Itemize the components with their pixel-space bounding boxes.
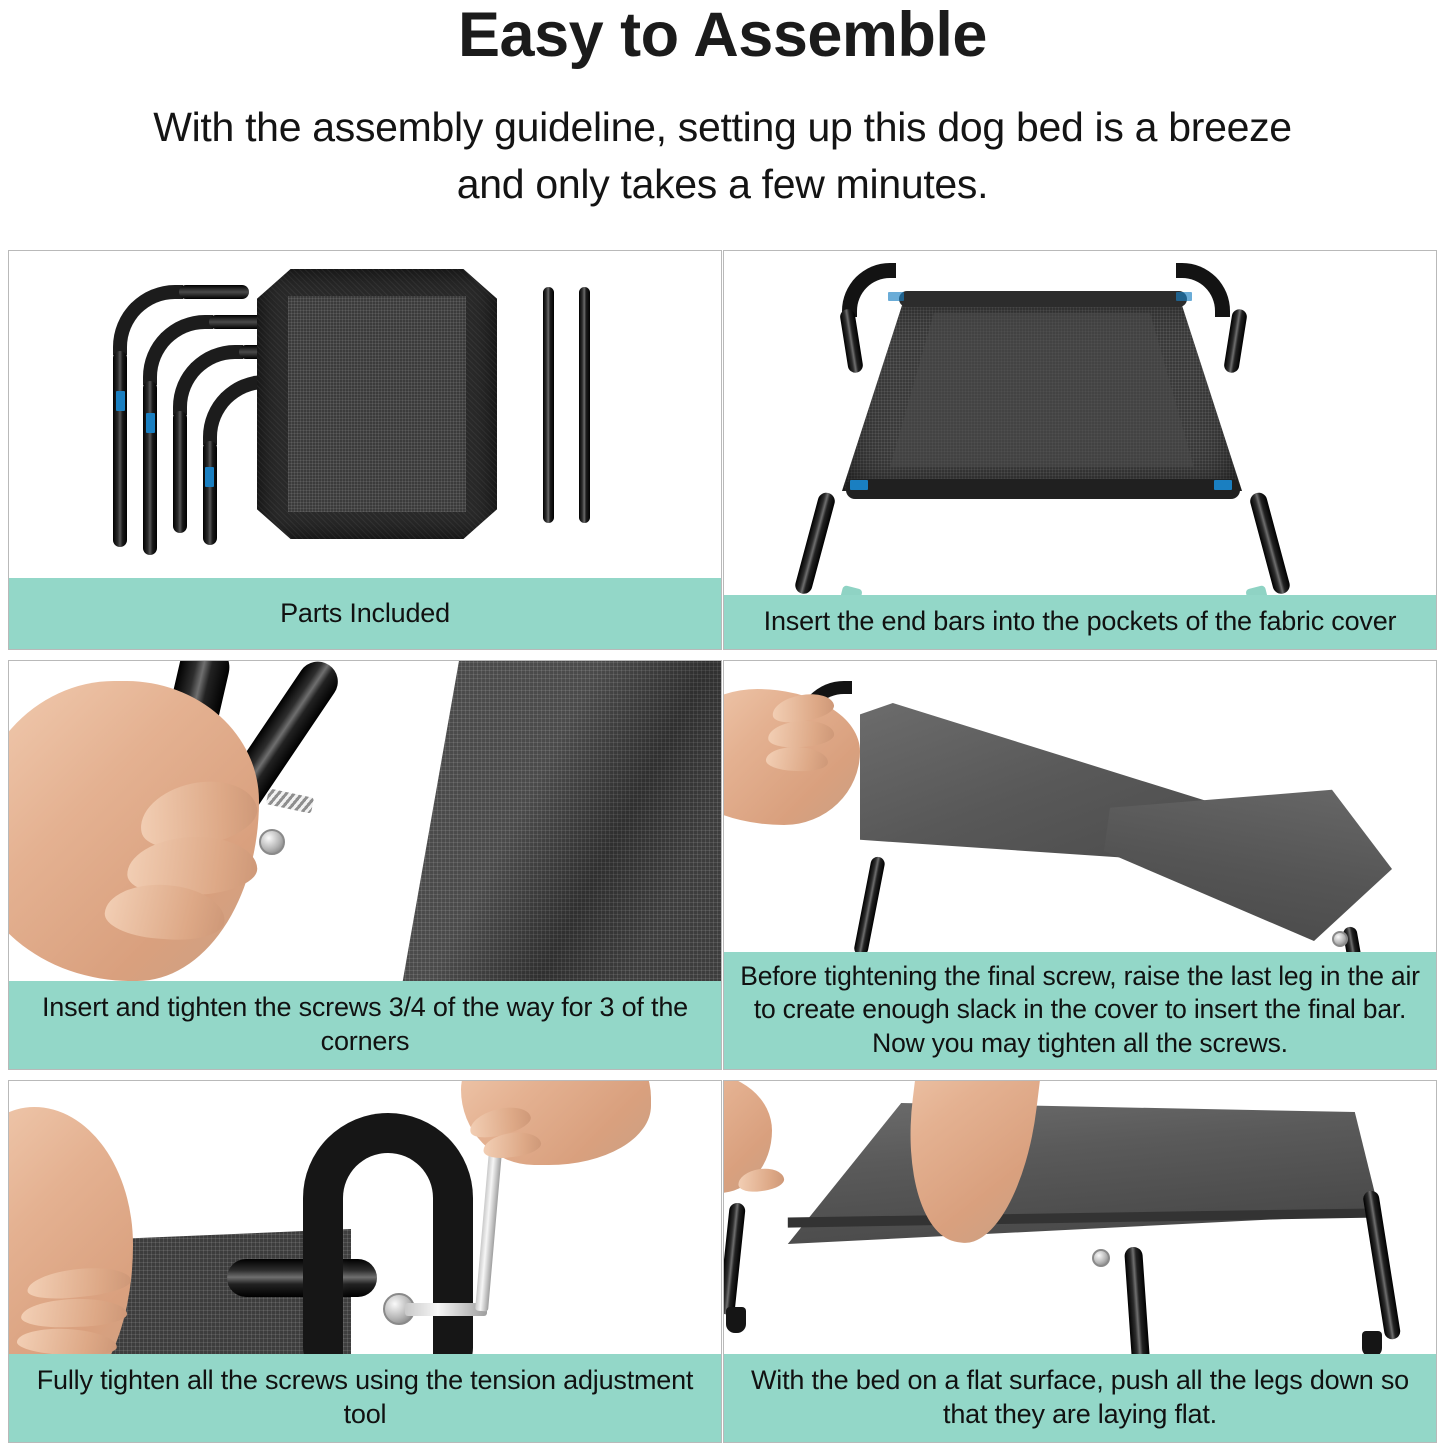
leg-corner-bolt: [1092, 1249, 1110, 1267]
step-6-caption: With the bed on a flat surface, push all…: [724, 1354, 1436, 1442]
end-bar-1: [543, 287, 554, 523]
steps-grid: Parts Included: [8, 250, 1437, 1443]
curved-leg-loop: [303, 1113, 473, 1383]
fabric-cover-part: [257, 269, 497, 539]
bed-top-surface: [750, 1103, 1380, 1253]
step-panel-5-tighten-with-tool: Fully tighten all the screws using the t…: [8, 1080, 722, 1443]
rear-leg-right: [1223, 308, 1248, 374]
screw-thread: [266, 788, 314, 813]
front-right-blue-label: [1214, 480, 1232, 490]
front-end-bar-sleeve: [846, 479, 1240, 499]
step-panel-3-insert-screws: Insert and tighten the screws 3/4 of the…: [8, 660, 722, 1070]
leg-4-blue-label: [205, 467, 214, 487]
curved-leg-1-top: [179, 285, 249, 299]
curved-leg-4-shaft: [203, 441, 217, 545]
step-4-caption: Before tightening the final screw, raise…: [724, 952, 1436, 1069]
screw-head: [259, 829, 285, 855]
step-2-caption: Insert the end bars into the pockets of …: [724, 595, 1436, 649]
rear-end-bar-sleeve: [899, 291, 1187, 307]
step-panel-2-insert-end-bars: Insert the end bars into the pockets of …: [723, 250, 1437, 650]
rear-right-blue-label: [1176, 292, 1192, 301]
step-panel-4-raise-last-leg: Before tightening the final screw, raise…: [723, 660, 1437, 1070]
step-1-caption: Parts Included: [9, 578, 721, 649]
header: Easy to Assemble With the assembly guide…: [0, 0, 1445, 212]
fabric-cover-mesh-panel: [288, 296, 466, 512]
mesh-fabric-fold: [401, 661, 721, 991]
curved-leg-1-shaft: [113, 351, 127, 547]
front-leg-left: [793, 491, 836, 596]
foot-cap-front-left: [726, 1307, 746, 1333]
front-left-blue-label: [850, 480, 868, 490]
step-3-caption: Insert and tighten the screws 3/4 of the…: [9, 981, 721, 1069]
page-title: Easy to Assemble: [0, 4, 1445, 67]
tilted-fabric-right: [1104, 779, 1404, 959]
leg-2-blue-label: [146, 413, 155, 433]
bed-frame-illustration: [724, 251, 1436, 649]
front-leg-right: [1248, 491, 1291, 596]
step-panel-1-parts-included: Parts Included: [8, 250, 722, 650]
bed-leg-front-left: [724, 1202, 746, 1315]
standing-leg-left: [853, 856, 886, 957]
rear-leg-left: [839, 308, 864, 374]
corner-bolt: [1332, 931, 1348, 947]
curved-leg-3-shaft: [173, 411, 187, 533]
leg-1-blue-label: [116, 391, 125, 411]
step-5-caption: Fully tighten all the screws using the t…: [9, 1354, 721, 1442]
curved-leg-2-shaft: [143, 381, 157, 555]
rear-left-blue-label: [888, 292, 904, 301]
end-bar-2: [579, 287, 590, 523]
infographic-page: Easy to Assemble With the assembly guide…: [0, 0, 1445, 1433]
frame-hook-back-right: [1176, 263, 1230, 317]
page-subtitle: With the assembly guideline, setting up …: [0, 99, 1445, 212]
step-panel-6-push-legs-flat: With the bed on a flat surface, push all…: [723, 1080, 1437, 1443]
bed-leg-back-right: [1362, 1190, 1401, 1341]
